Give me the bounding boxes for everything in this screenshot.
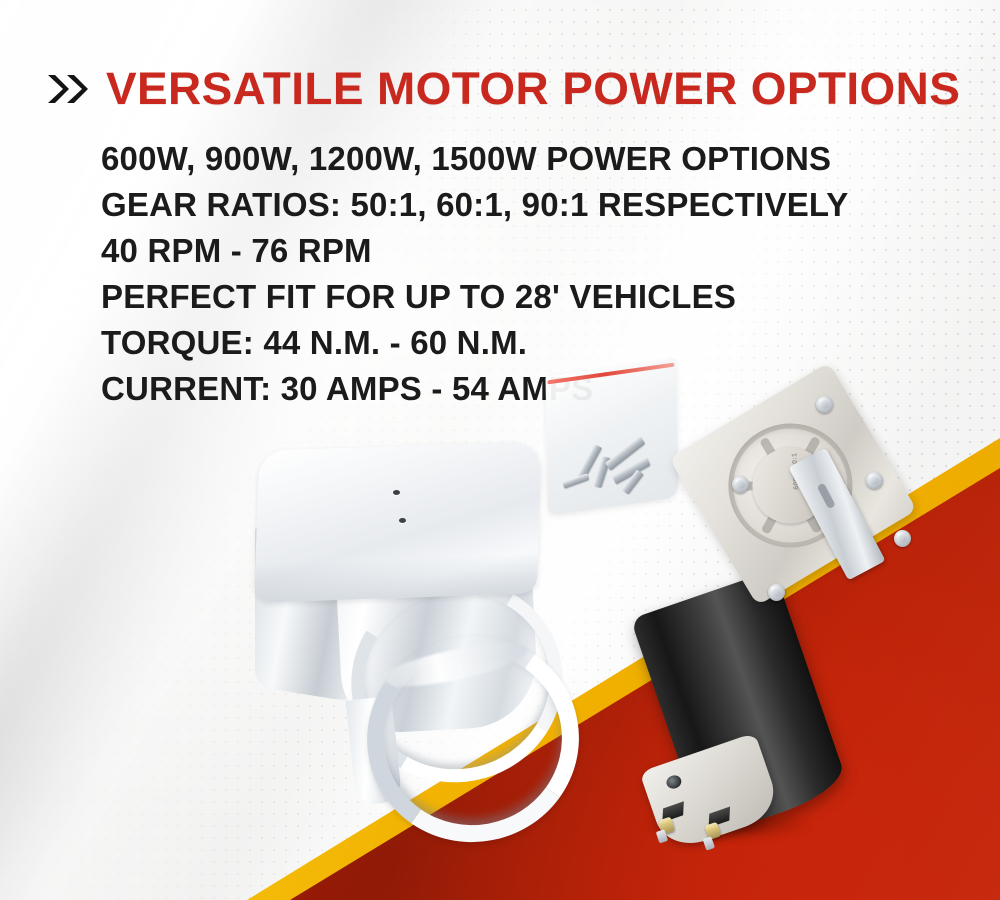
double-chevron-right-icon <box>46 72 92 106</box>
headline-row: VERSATILE MOTOR POWER OPTIONS <box>46 66 944 111</box>
spec-line-current: CURRENT: 30 AMPS - 54 AMPS <box>101 366 861 412</box>
spec-line-gear-ratios: GEAR RATIOS: 50:1, 60:1, 90:1 RESPECTIVE… <box>101 182 861 228</box>
spec-line-power: 600W, 900W, 1200W, 1500W POWER OPTIONS <box>101 136 861 182</box>
spec-line-vehicle-fit: PERFECT FIT FOR UP TO 28' VEHICLES <box>101 274 861 320</box>
spec-list: 600W, 900W, 1200W, 1500W POWER OPTIONS G… <box>101 136 861 412</box>
product-feature-banner: VERSATILE MOTOR POWER OPTIONS 600W, 900W… <box>0 0 1000 900</box>
spec-line-rpm: 40 RPM - 76 RPM <box>101 228 861 274</box>
spec-line-torque: TORQUE: 44 N.M. - 60 N.M. <box>101 320 861 366</box>
page-title: VERSATILE MOTOR POWER OPTIONS <box>106 66 960 111</box>
